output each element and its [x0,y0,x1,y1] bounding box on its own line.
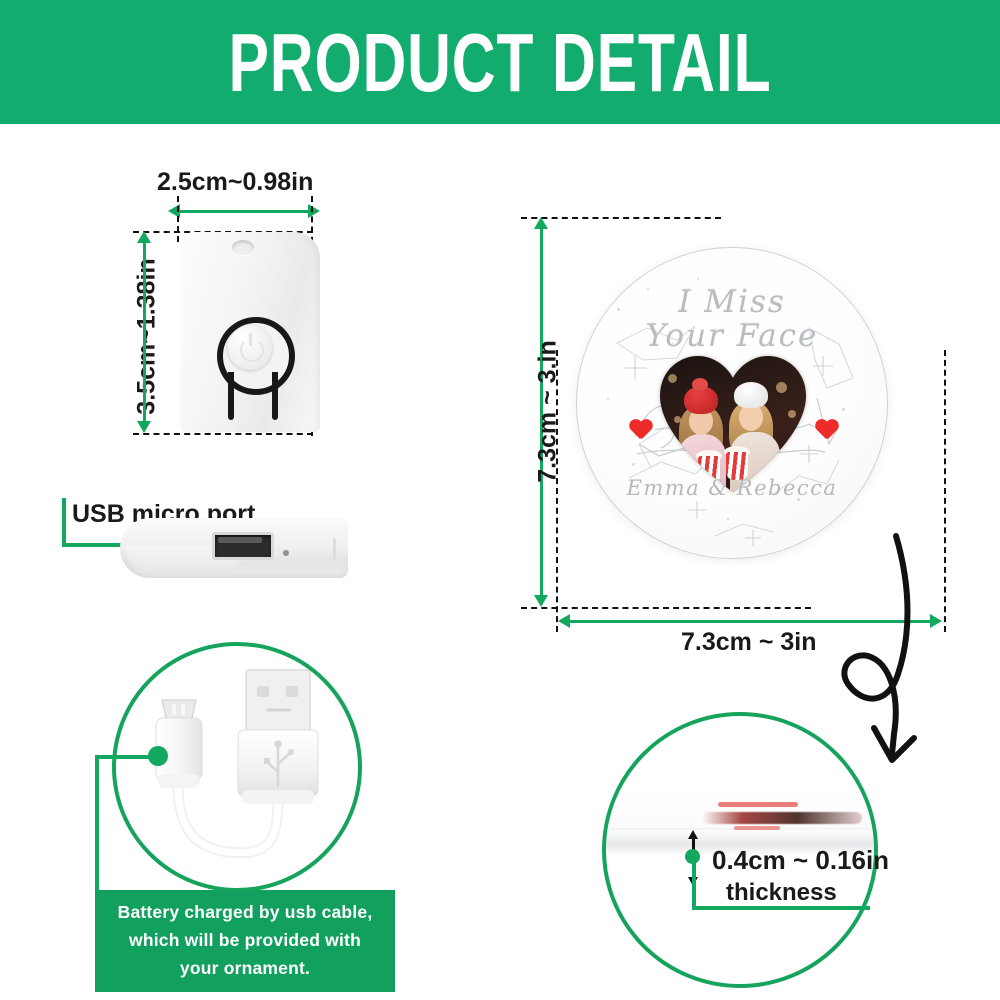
engraved-names: Emma & Rebecca [577,476,887,500]
base-height-arrow-line [143,242,146,422]
disc-width-label: 7.3cm ~ 3in [681,628,817,657]
power-symbol-ring [240,338,264,362]
disc-height-arrow-up [534,217,548,229]
heart-photo-frame [660,356,806,492]
base-height-label: 3.5cm~1.38in [133,237,162,437]
thickness-unit-label: thickness [726,879,837,907]
photo-person-2-face [739,404,763,431]
base-height-arrow-up [137,231,151,243]
hand-drawn-curved-arrow-icon [838,528,1000,798]
disc-guide-bottom [521,607,811,609]
battery-caption-box: Battery charged by usb cable, which will… [95,890,395,992]
power-symbol-bar [249,333,252,346]
disc-height-label: 7.3cm ~ 3.in [534,307,563,517]
disc-width-arrow-left [558,614,570,628]
disc-guide-top [521,217,721,219]
side-seam-line [333,538,336,560]
base-guide-left-top [177,196,179,242]
thickness-leader-horizontal [692,906,870,910]
usb-callout-leader-vertical [62,498,66,546]
page-title: PRODUCT DETAIL [90,0,910,131]
disc-edge-photo-reflection [702,812,862,824]
photo-red-pompom [692,378,708,391]
cable-leader-dot-icon [148,746,168,766]
caption-line-3: your ornament. [105,954,385,982]
usb-micro-port-contact [218,537,262,543]
red-heart-icon-left [629,420,653,442]
product-detail-infographic: PRODUCT DETAIL 2.5cm~0.98in 3.5cm~1.38in… [0,0,1000,1000]
caption-line-1: Battery charged by usb cable, [105,898,385,926]
disc-height-arrow-down [534,595,548,607]
thickness-value-label: 0.4cm ~ 0.16in [712,845,889,876]
red-heart-icon-right [815,420,839,442]
base-width-label: 2.5cm~0.98in [157,168,313,197]
photo-white-beanie [734,382,768,408]
thickness-leader-vertical [692,857,696,909]
cable-leader-horizontal [95,755,155,759]
curved-arrow-svg [838,528,1000,798]
power-button-leg-right [272,372,278,420]
hang-hole-icon [232,240,254,255]
heart-photo-image [660,356,806,492]
caption-line-2: which will be provided with [105,926,385,954]
base-width-arrow-right [308,204,320,218]
base-height-arrow-down [137,421,151,433]
indicator-led-icon [283,550,289,556]
disc-edge-red-accent [734,826,780,830]
acrylic-ornament-disc: I Miss Your Face [576,247,888,559]
base-width-arrow-line [178,210,310,213]
power-button-leg-left [228,372,234,420]
disc-edge-red-accent [718,802,798,807]
header-banner: PRODUCT DETAIL [0,0,1000,124]
